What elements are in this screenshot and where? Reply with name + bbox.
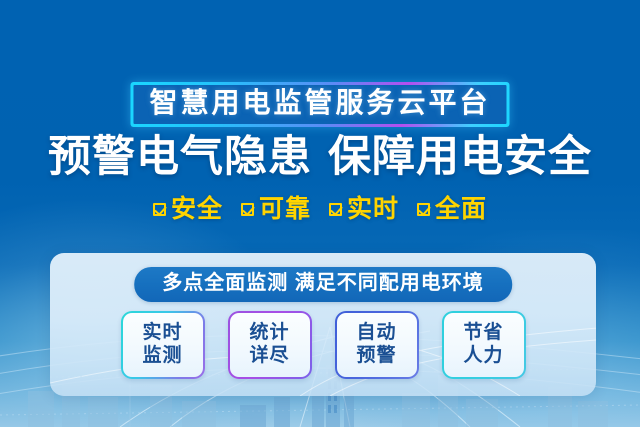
feature-card-inner: 节省 人力: [444, 313, 524, 377]
promo-poster: 智慧用电监管服务云平台 预警电气隐患保障用电安全 安全 可靠 实时 全面: [0, 0, 640, 427]
platform-title-chip: 智慧用电监管服务云平台: [130, 82, 509, 127]
headline-part-2: 保障用电安全: [328, 133, 592, 181]
feature-check-label-2: 可靠: [259, 197, 311, 222]
panel-banner-text: 多点全面监测 满足不同配用电环境: [162, 272, 484, 295]
feature-card-line-2: 监测: [142, 345, 182, 368]
checkbox-checked-icon: [241, 203, 254, 216]
feature-card-line-1: 自动: [356, 322, 396, 345]
feature-check-list: 安全 可靠 实时 全面: [0, 197, 640, 222]
headline-part-1: 预警电气隐患: [48, 133, 312, 181]
feature-card-detailed-statistics[interactable]: 统计 详尽: [228, 311, 312, 379]
feature-card-line-1: 实时: [142, 322, 182, 345]
feature-check-item-2: 可靠: [241, 197, 311, 222]
feature-card-line-1: 统计: [249, 322, 289, 345]
feature-card-inner: 统计 详尽: [230, 313, 310, 377]
feature-check-label-4: 全面: [435, 197, 487, 222]
feature-card-realtime-monitoring[interactable]: 实时 监测: [121, 311, 205, 379]
feature-card-line-2: 预警: [356, 345, 396, 368]
panel-banner-pill: 多点全面监测 满足不同配用电环境: [134, 267, 512, 302]
checkbox-checked-icon: [329, 203, 342, 216]
checkbox-checked-icon: [153, 203, 166, 216]
feature-panel: 多点全面监测 满足不同配用电环境 实时 监测 统计 详尽 自动 预警: [50, 253, 596, 396]
feature-check-item-4: 全面: [417, 197, 487, 222]
feature-card-list: 实时 监测 统计 详尽 自动 预警 节省 人力: [50, 311, 596, 379]
feature-card-inner: 自动 预警: [337, 313, 417, 377]
feature-card-line-1: 节省: [463, 322, 503, 345]
platform-title-chip-inner: 智慧用电监管服务云平台: [133, 85, 506, 124]
feature-check-item-1: 安全: [153, 197, 223, 222]
feature-card-save-manpower[interactable]: 节省 人力: [442, 311, 526, 379]
platform-title-text: 智慧用电监管服务云平台: [149, 88, 490, 118]
feature-card-line-2: 详尽: [249, 345, 289, 368]
feature-card-automatic-alarm[interactable]: 自动 预警: [335, 311, 419, 379]
feature-check-label-3: 实时: [347, 197, 399, 222]
feature-card-inner: 实时 监测: [123, 313, 203, 377]
checkbox-checked-icon: [417, 203, 430, 216]
feature-check-label-1: 安全: [171, 197, 223, 222]
feature-check-item-3: 实时: [329, 197, 399, 222]
headline: 预警电气隐患保障用电安全: [0, 135, 640, 180]
feature-card-line-2: 人力: [463, 345, 503, 368]
